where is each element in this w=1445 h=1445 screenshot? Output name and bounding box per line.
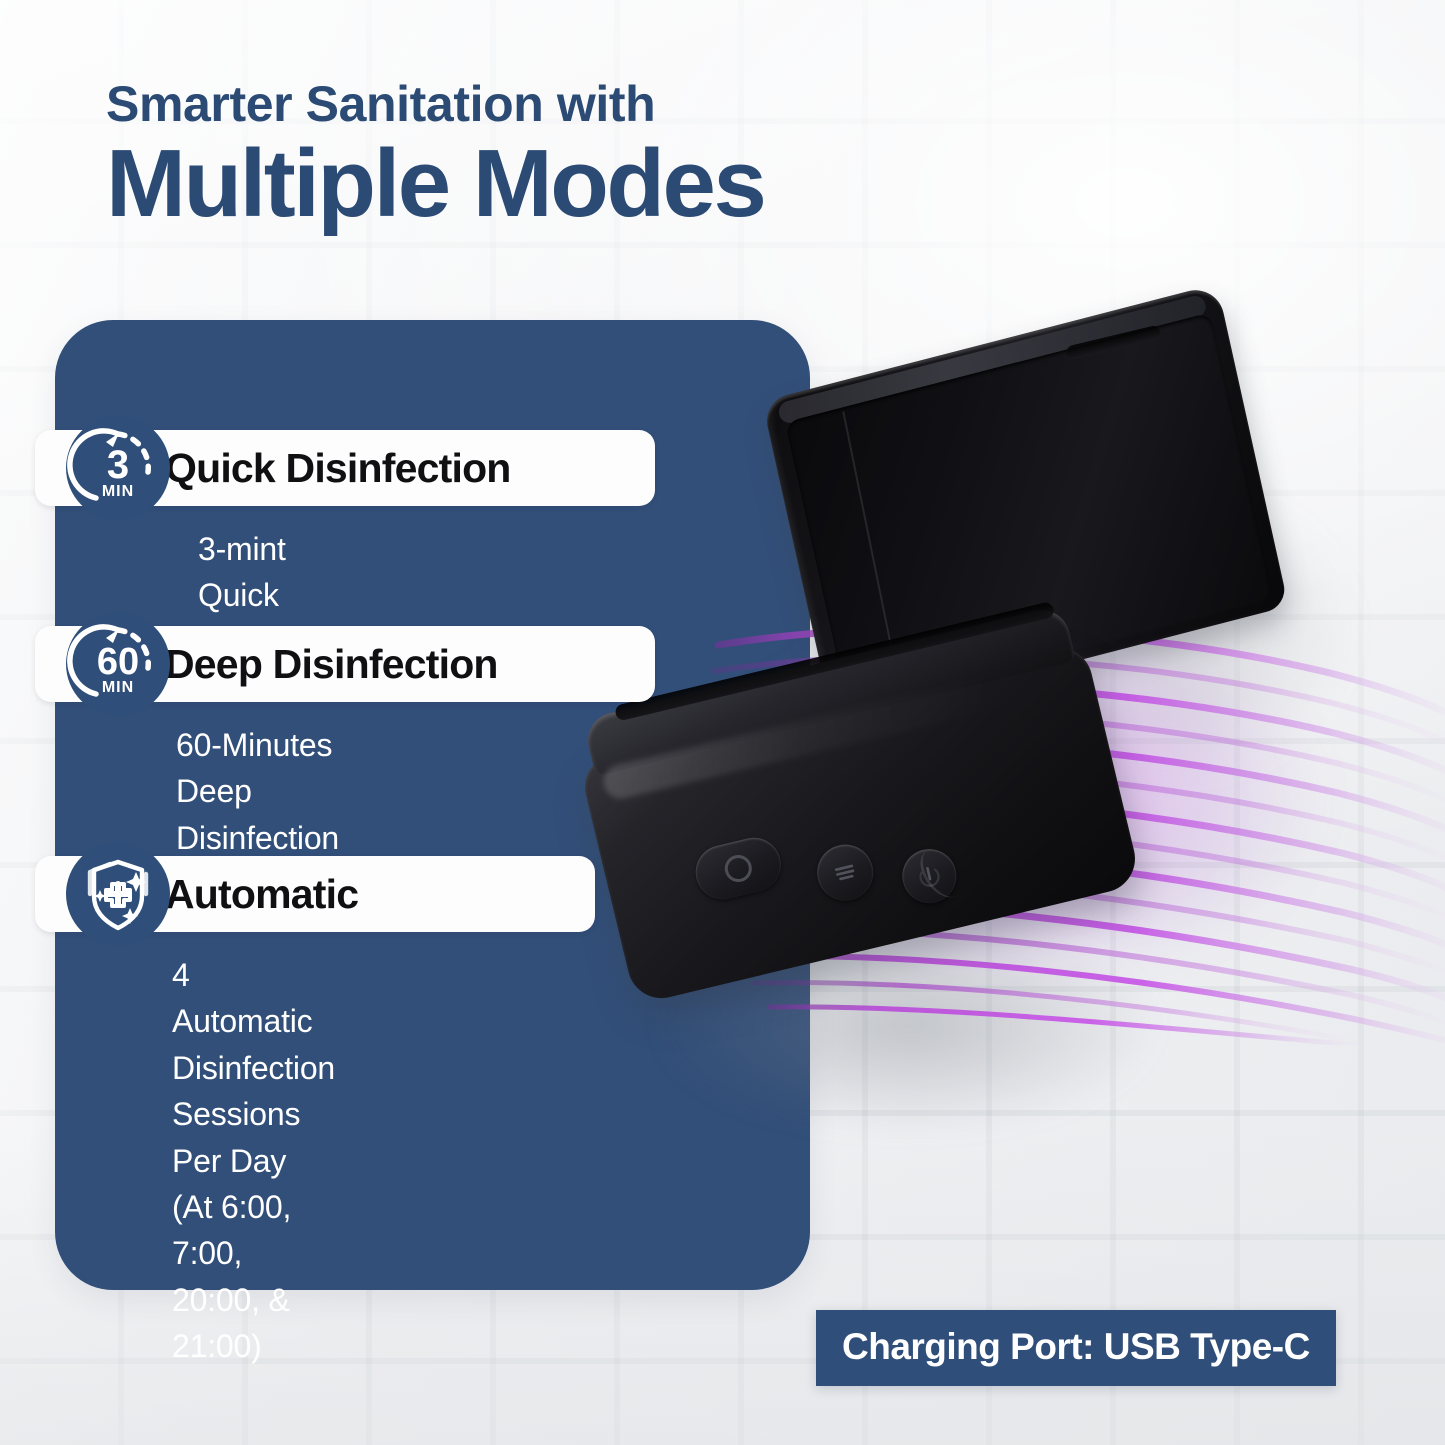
charging-port-label: Charging Port: USB Type-C [816,1310,1336,1386]
infographic-canvas: Smarter Sanitation with Multiple Modes [0,0,1445,1445]
timer-3-min-icon: 3 MIN [66,416,170,520]
page-title: Smarter Sanitation with Multiple Modes [106,78,1206,232]
mode-oval-button[interactable] [690,832,786,905]
page-title-line-2: Multiple Modes [106,136,1206,232]
shield-cross-sparkle-icon [66,842,170,946]
svg-text:3: 3 [107,443,129,487]
svg-text:60: 60 [97,641,139,683]
svg-text:MIN: MIN [102,483,134,500]
sanitize-mode-button[interactable] [811,839,879,907]
timer-60-min-icon: 60 MIN [66,612,170,716]
page-title-line-1: Smarter Sanitation with [106,78,1206,130]
svg-text:MIN: MIN [102,679,134,696]
lines-icon [827,855,863,891]
feature-title: Automatic [165,856,358,932]
uv-sanitizer-device [560,360,1380,1220]
feature-title: Deep Disinfection [165,626,498,702]
feature-description: 60-Minutes Deep Disinfection [176,722,339,861]
circle-icon [718,848,759,889]
feature-description: 4 Automatic Disinfection Sessions Per Da… [172,952,335,1370]
feature-title: Quick Disinfection [165,430,511,506]
